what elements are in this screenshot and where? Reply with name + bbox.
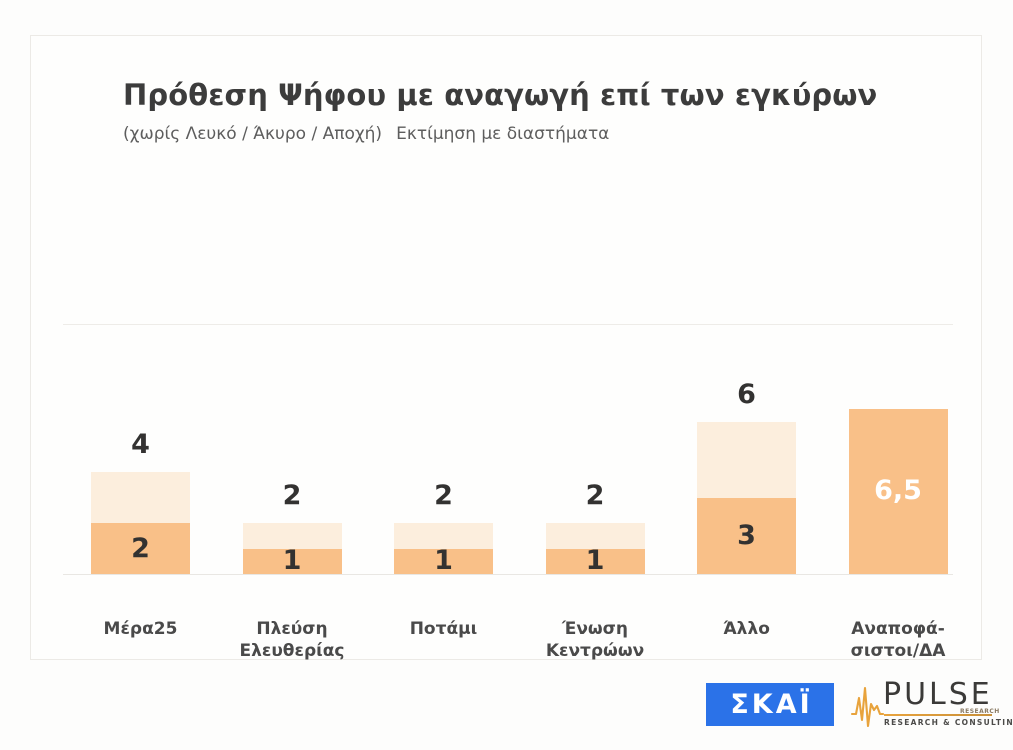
pulse-logo: PULSE RESEARCH RESEARCH & CONSULTING xyxy=(850,678,995,732)
bar-lower-value-label: 1 xyxy=(394,547,493,574)
bar-segment-lower: 1 xyxy=(243,549,342,574)
bar-upper-value-label: 2 xyxy=(546,482,645,509)
bar-upper-value-label: 2 xyxy=(243,482,342,509)
pulse-logo-text: PULSE xyxy=(883,680,993,710)
bar-5[interactable]: 3 xyxy=(697,422,796,574)
bar-segment-lower: 2 xyxy=(91,523,190,574)
pulse-logo-subtext: RESEARCH xyxy=(960,708,1000,715)
bar-chart-plot: 42212121636,5 Μέρα25ΠλεύσηΕλευθερίαςΠοτά… xyxy=(31,36,983,661)
bar-segment-lower: 1 xyxy=(394,549,493,574)
bar-1[interactable]: 2 xyxy=(91,472,190,574)
bar-segment-lower: 1 xyxy=(546,549,645,574)
bar-3[interactable]: 1 xyxy=(394,523,493,574)
bar-segment-upper xyxy=(91,472,190,523)
bar-segment-value: 6,5 xyxy=(849,409,948,574)
category-label-line: Ένωση xyxy=(520,619,670,641)
gridline-top xyxy=(63,324,953,325)
footer-logos: ΣΚΑΪ PULSE RESEARCH RESEARCH & CONSULTIN… xyxy=(0,668,1013,750)
bar-lower-value-label: 3 xyxy=(697,522,796,549)
category-label-line: Μέρα25 xyxy=(66,619,216,641)
category-label-5: Άλλο xyxy=(672,619,822,641)
category-label-line: Ελευθερίας xyxy=(217,641,367,663)
category-label-line: σιστοι/ΔΑ xyxy=(823,641,973,663)
pulse-waveform-icon xyxy=(850,684,884,728)
category-label-2: ΠλεύσηΕλευθερίας xyxy=(217,619,367,663)
bar-lower-value-label: 2 xyxy=(91,535,190,562)
category-label-1: Μέρα25 xyxy=(66,619,216,641)
bar-value-label: 6,5 xyxy=(849,477,948,504)
bar-upper-value-label: 4 xyxy=(91,431,190,458)
bar-lower-value-label: 1 xyxy=(546,547,645,574)
bar-segment-upper xyxy=(697,422,796,498)
screenshot-root: Πρόθεση Ψήφου με αναγωγή επί των εγκύρων… xyxy=(0,0,1013,750)
bar-6[interactable]: 6,5 xyxy=(849,409,948,574)
category-label-3: Ποτάμι xyxy=(369,619,519,641)
bar-lower-value-label: 1 xyxy=(243,547,342,574)
pulse-logo-tagline: RESEARCH & CONSULTING xyxy=(884,718,1013,727)
bar-upper-value-label: 6 xyxy=(697,381,796,408)
category-label-line: Πλεύση xyxy=(217,619,367,641)
category-label-6: Αναποφά-σιστοι/ΔΑ xyxy=(823,619,973,663)
bar-2[interactable]: 1 xyxy=(243,523,342,574)
category-label-line: Κεντρώων xyxy=(520,641,670,663)
category-label-line: Άλλο xyxy=(672,619,822,641)
category-label-line: Ποτάμι xyxy=(369,619,519,641)
bar-upper-value-label: 2 xyxy=(394,482,493,509)
skai-logo: ΣΚΑΪ xyxy=(706,683,834,726)
skai-logo-text: ΣΚΑΪ xyxy=(727,691,812,718)
chart-card: Πρόθεση Ψήφου με αναγωγή επί των εγκύρων… xyxy=(30,35,982,660)
category-label-4: ΈνωσηΚεντρώων xyxy=(520,619,670,663)
category-label-line: Αναποφά- xyxy=(823,619,973,641)
axis-baseline xyxy=(63,574,953,575)
bar-4[interactable]: 1 xyxy=(546,523,645,574)
bar-segment-lower: 3 xyxy=(697,498,796,574)
